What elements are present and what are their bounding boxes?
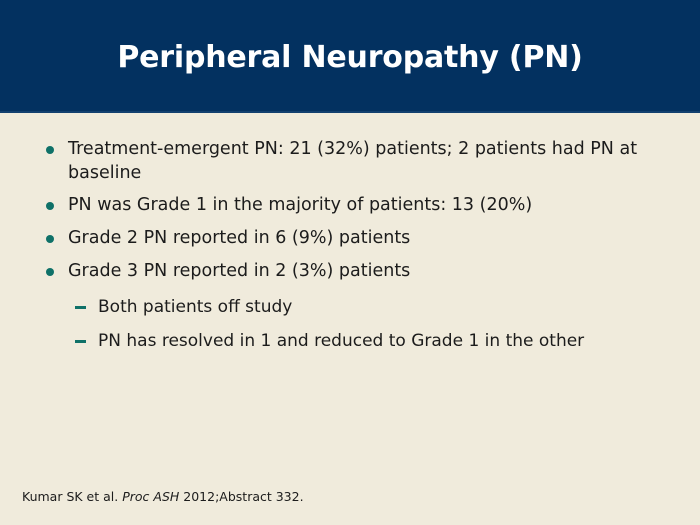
- list-item: Grade 2 PN reported in 6 (9%) patients: [40, 227, 660, 251]
- bullet-list: Treatment-emergent PN: 21 (32%) patients…: [40, 138, 660, 364]
- en-dash-icon: [75, 306, 86, 309]
- page-title: Peripheral Neuropathy (PN): [0, 0, 700, 111]
- sub-bullet-list: Both patients off study PN has resolved …: [40, 296, 660, 353]
- sub-bullet-text: PN has resolved in 1 and reduced to Grad…: [98, 330, 618, 353]
- sub-list-item: PN has resolved in 1 and reduced to Grad…: [40, 330, 660, 353]
- bullet-dot-icon: [46, 146, 54, 154]
- slide-body: Treatment-emergent PN: 21 (32%) patients…: [0, 113, 700, 525]
- bullet-text: Grade 3 PN reported in 2 (3%) patients: [68, 260, 660, 284]
- bullet-dot-icon: [46, 268, 54, 276]
- citation-author: Kumar SK et al.: [22, 489, 118, 504]
- list-item: Treatment-emergent PN: 21 (32%) patients…: [40, 138, 660, 185]
- citation-footnote: Kumar SK et al. Proc ASH 2012;Abstract 3…: [22, 489, 304, 504]
- bullet-dot-icon: [46, 202, 54, 210]
- sub-list-item: Both patients off study: [40, 296, 660, 319]
- citation-source: Proc ASH: [122, 489, 179, 504]
- en-dash-icon: [75, 340, 86, 343]
- bullet-text: Treatment-emergent PN: 21 (32%) patients…: [68, 138, 648, 185]
- citation-reference: 2012;Abstract 332.: [183, 489, 303, 504]
- bullet-dot-icon: [46, 235, 54, 243]
- slide: Peripheral Neuropathy (PN) Treatment-eme…: [0, 0, 700, 525]
- bullet-text: PN was Grade 1 in the majority of patien…: [68, 194, 660, 218]
- title-banner: Peripheral Neuropathy (PN): [0, 0, 700, 113]
- bullet-text: Grade 2 PN reported in 6 (9%) patients: [68, 227, 660, 251]
- list-item: PN was Grade 1 in the majority of patien…: [40, 194, 660, 218]
- list-item: Grade 3 PN reported in 2 (3%) patients: [40, 260, 660, 284]
- sub-bullet-text: Both patients off study: [98, 296, 660, 319]
